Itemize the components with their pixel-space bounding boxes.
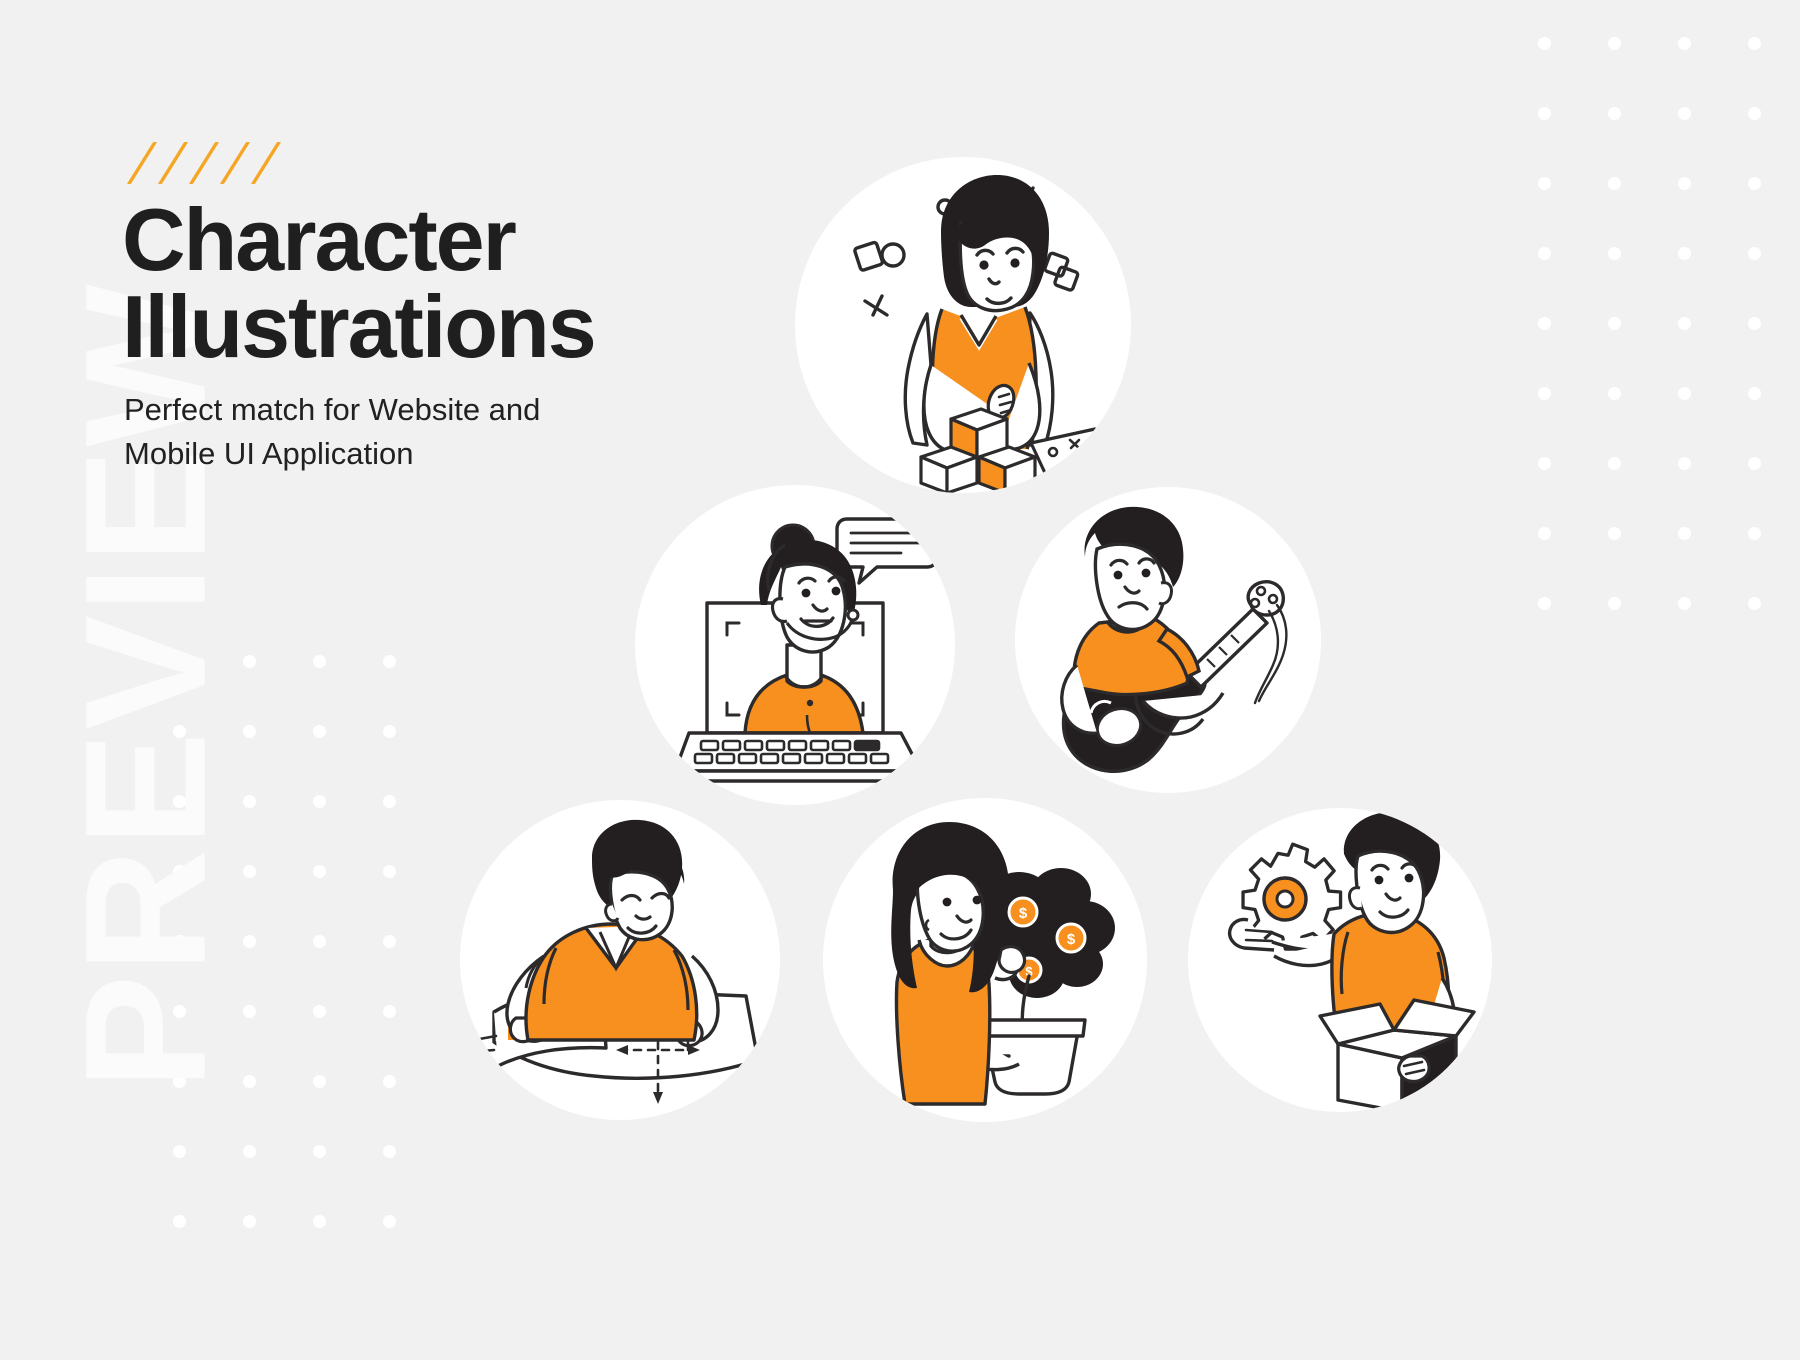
decorative-dot <box>383 1145 396 1158</box>
decorative-dot <box>313 795 326 808</box>
man-with-gear-and-box-icon <box>1188 808 1492 1112</box>
decorative-dot <box>1538 107 1551 120</box>
page-subtitle: Perfect match for Website and Mobile UI … <box>124 388 744 476</box>
svg-text:$: $ <box>1019 905 1028 922</box>
decorative-dot <box>1678 597 1691 610</box>
decorative-dot <box>313 1215 326 1228</box>
decorative-dot <box>1608 527 1621 540</box>
decorative-dot <box>1748 317 1761 330</box>
decorative-dot <box>1608 597 1621 610</box>
decorative-dot <box>243 1215 256 1228</box>
decorative-dot <box>1748 37 1761 50</box>
illustration-circle-video-call[interactable] <box>635 485 955 805</box>
decorative-dot <box>1538 457 1551 470</box>
page-title-line-2: Illustrations <box>122 283 822 370</box>
decorative-dot <box>313 865 326 878</box>
slash-decoration <box>140 142 310 184</box>
illustration-circle-blocks-builder[interactable] <box>795 157 1131 493</box>
decorative-dot <box>383 935 396 948</box>
decorative-dot <box>243 1145 256 1158</box>
page-subtitle-line-1: Perfect match for Website and <box>124 388 744 432</box>
decorative-dot <box>313 725 326 738</box>
decorative-dot <box>1608 457 1621 470</box>
page-title-line-1: Character <box>122 196 822 283</box>
illustration-circle-blueprint[interactable] <box>460 800 780 1120</box>
decorative-dot <box>1678 37 1691 50</box>
decorative-dot <box>1608 317 1621 330</box>
slash-mark <box>158 142 188 184</box>
decorative-dot <box>1678 177 1691 190</box>
decorative-dot <box>1748 457 1761 470</box>
decorative-dot <box>1748 107 1761 120</box>
decorative-dot <box>1678 457 1691 470</box>
decorative-dot <box>383 1005 396 1018</box>
decorative-dot <box>1748 177 1761 190</box>
decorative-dot <box>243 865 256 878</box>
decorative-dot <box>313 1075 326 1088</box>
poster-canvas: PREVIEW Character Illustrations Perfect … <box>0 0 1800 1360</box>
page-title: Character Illustrations <box>122 196 822 370</box>
decorative-dot <box>383 655 396 668</box>
slash-mark <box>251 142 281 184</box>
decorative-dot <box>1538 37 1551 50</box>
decorative-dot <box>1678 387 1691 400</box>
illustration-circle-gear-box[interactable] <box>1188 808 1492 1112</box>
decorative-dot <box>383 865 396 878</box>
decorative-dot <box>243 935 256 948</box>
decorative-dot <box>173 1145 186 1158</box>
slash-mark <box>189 142 219 184</box>
decorative-dot <box>1608 37 1621 50</box>
decorative-dot <box>313 935 326 948</box>
man-playing-guitar-icon <box>1015 487 1321 793</box>
decorative-dot <box>243 795 256 808</box>
decorative-dot <box>243 725 256 738</box>
decorative-dot <box>243 1005 256 1018</box>
decorative-dot <box>243 655 256 668</box>
decorative-dot <box>1538 527 1551 540</box>
decorative-dot <box>173 1215 186 1228</box>
page-subtitle-line-2: Mobile UI Application <box>124 432 744 476</box>
decorative-dot <box>1678 527 1691 540</box>
woman-on-laptop-video-call-icon <box>635 485 955 805</box>
woman-holding-money-plant-icon: $ $ $ <box>823 798 1147 1122</box>
decorative-dot <box>1748 527 1761 540</box>
decorative-dot <box>383 1215 396 1228</box>
illustration-circle-guitar-player[interactable] <box>1015 487 1321 793</box>
decorative-dot <box>1748 387 1761 400</box>
svg-text:$: $ <box>1067 931 1076 948</box>
illustration-circle-money-plant[interactable]: $ $ $ <box>823 798 1147 1122</box>
decorative-dot <box>1608 107 1621 120</box>
decorative-dot <box>313 1145 326 1158</box>
decorative-dot <box>1608 247 1621 260</box>
decorative-dot <box>313 1005 326 1018</box>
decorative-dot <box>243 1075 256 1088</box>
decorative-dot <box>1538 177 1551 190</box>
decorative-dot <box>1538 597 1551 610</box>
decorative-dot <box>1538 387 1551 400</box>
slash-mark <box>220 142 250 184</box>
decorative-dot <box>1748 247 1761 260</box>
decorative-dot <box>1678 247 1691 260</box>
decorative-dot <box>1608 387 1621 400</box>
decorative-dot <box>1538 317 1551 330</box>
slash-mark <box>127 142 157 184</box>
woman-with-building-blocks-icon <box>795 157 1131 493</box>
decorative-dot <box>1608 177 1621 190</box>
decorative-dot <box>313 655 326 668</box>
decorative-dot <box>383 795 396 808</box>
decorative-dot <box>383 1075 396 1088</box>
decorative-dot <box>383 725 396 738</box>
decorative-dot <box>1538 247 1551 260</box>
decorative-dot <box>1748 597 1761 610</box>
man-reading-blueprint-icon <box>460 800 780 1120</box>
decorative-dot <box>1678 317 1691 330</box>
decorative-dot <box>1678 107 1691 120</box>
